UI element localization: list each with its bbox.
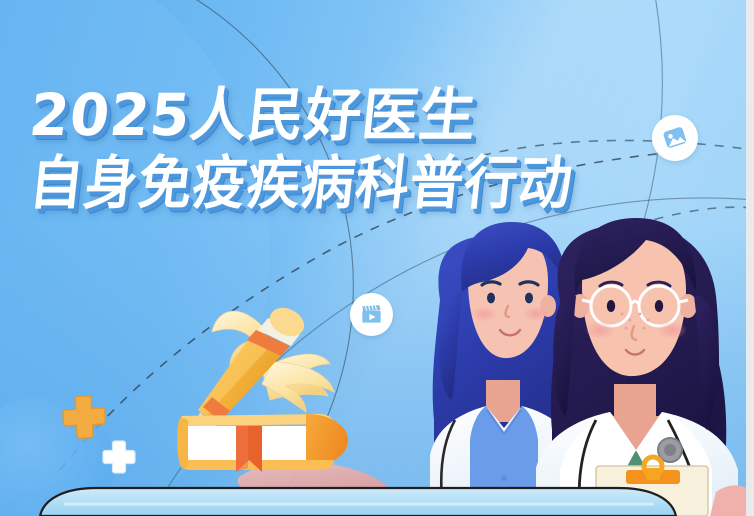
right-edge-strip xyxy=(746,0,754,516)
desk-panel xyxy=(40,488,676,516)
desk-layer xyxy=(0,0,754,516)
poster-banner: 2025人民好医生 自身免疫疾病科普行动 xyxy=(0,0,754,516)
